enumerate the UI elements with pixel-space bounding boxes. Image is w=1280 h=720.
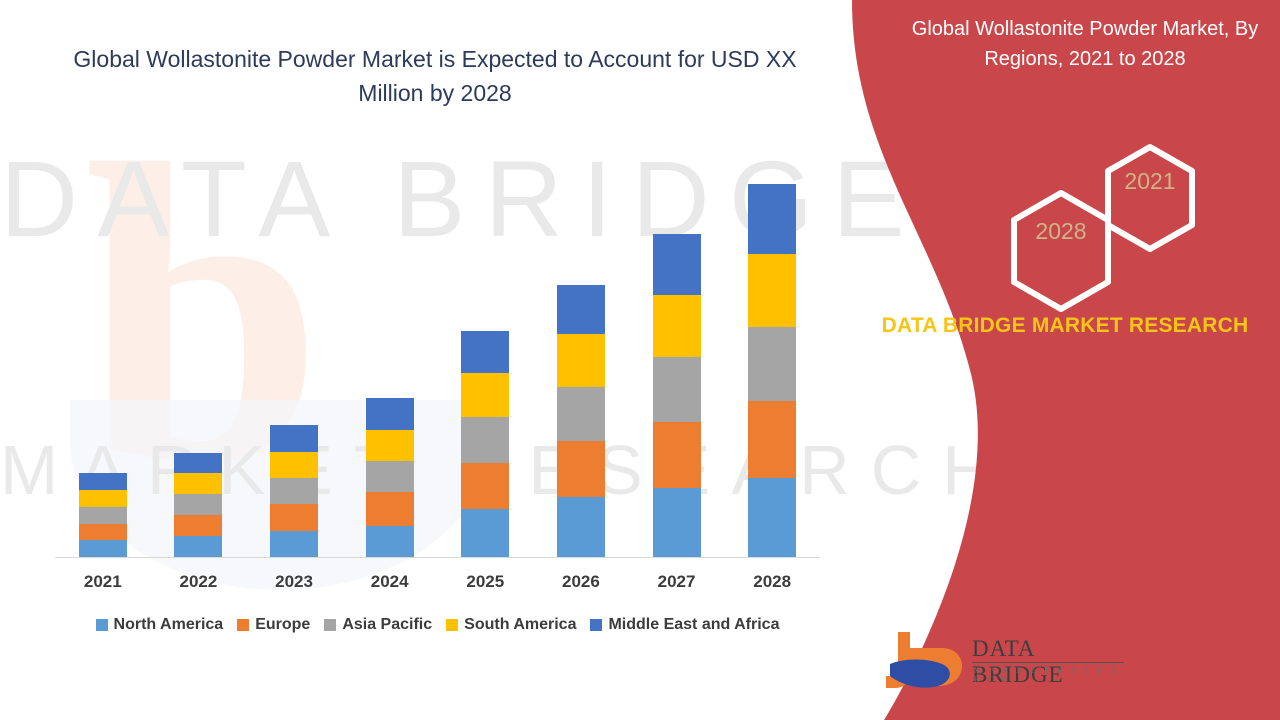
hexagon-2028-label: 2028: [1005, 218, 1117, 245]
x-axis-label-2021: 2021: [55, 572, 150, 600]
bar-column: [342, 150, 437, 557]
bar-column: [438, 150, 533, 557]
x-axis-label-2027: 2027: [629, 572, 724, 600]
bar-segment-asia-pacific: [79, 507, 127, 524]
legend-label: South America: [464, 616, 576, 634]
bar-segment-south-america: [653, 295, 701, 358]
bar-segment-middle-east-and-africa: [461, 331, 509, 373]
bar-segment-middle-east-and-africa: [748, 184, 796, 254]
bar-segment-asia-pacific: [557, 387, 605, 441]
legend-label: Middle East and Africa: [608, 616, 779, 634]
bar-column: [247, 150, 342, 557]
bar-column: [629, 150, 724, 557]
bar-segment-asia-pacific: [270, 478, 318, 504]
stacked-bar-2026: [557, 285, 605, 557]
x-axis-label-2022: 2022: [151, 572, 246, 600]
bar-segment-europe: [79, 524, 127, 541]
stacked-bar-2022: [174, 453, 222, 557]
logo-tagline: M A R K E T R E S E A R C H: [974, 666, 1130, 684]
hexagon-group: 2021 2028: [860, 140, 1280, 285]
chart-legend: North AmericaEuropeAsia PacificSouth Ame…: [55, 616, 820, 634]
bar-segment-europe: [748, 401, 796, 477]
x-axis-label-2023: 2023: [247, 572, 342, 600]
logo-divider: [972, 662, 1124, 663]
infographic-slide: b DATA BRIDGE MARKET RESEARCH Global Wol…: [0, 0, 1280, 720]
x-axis-line: [55, 557, 820, 558]
bar-column: [533, 150, 628, 557]
stacked-bar-chart: [55, 150, 820, 557]
bar-segment-south-america: [557, 334, 605, 386]
bar-segment-north-america: [366, 526, 414, 557]
bar-segment-asia-pacific: [174, 494, 222, 515]
bar-segment-south-america: [174, 473, 222, 494]
bar-segment-middle-east-and-africa: [270, 425, 318, 451]
bar-segment-europe: [557, 441, 605, 497]
bar-segment-south-america: [79, 490, 127, 507]
bar-segment-north-america: [748, 478, 796, 557]
x-axis-label-2028: 2028: [725, 572, 820, 600]
brand-name: DATA BRIDGE MARKET RESEARCH: [875, 310, 1255, 342]
bar-segment-asia-pacific: [461, 417, 509, 463]
legend-item-asia-pacific[interactable]: Asia Pacific: [324, 616, 432, 634]
bar-segment-middle-east-and-africa: [653, 234, 701, 295]
bar-segment-north-america: [461, 509, 509, 557]
company-logo: DATA BRIDGE M A R K E T R E S E A R C H: [880, 628, 1130, 698]
stacked-bar-2024: [366, 398, 414, 557]
bar-segment-europe: [653, 422, 701, 488]
bar-segment-south-america: [748, 254, 796, 327]
bar-column: [55, 150, 150, 557]
bar-segment-europe: [270, 504, 318, 531]
x-axis-label-2025: 2025: [438, 572, 533, 600]
stacked-bar-2027: [653, 234, 701, 557]
legend-swatch-icon: [446, 619, 458, 631]
bar-segment-middle-east-and-africa: [79, 473, 127, 490]
bar-segment-south-america: [366, 430, 414, 461]
bar-segment-asia-pacific: [653, 357, 701, 422]
bar-segment-europe: [366, 492, 414, 525]
legend-label: Asia Pacific: [342, 616, 432, 634]
legend-swatch-icon: [324, 619, 336, 631]
bar-segment-north-america: [557, 497, 605, 557]
legend-label: North America: [114, 616, 224, 634]
legend-swatch-icon: [590, 619, 602, 631]
stacked-bar-2023: [270, 425, 318, 557]
bar-segment-north-america: [79, 540, 127, 557]
x-axis-labels: 20212022202320242025202620272028: [55, 572, 820, 600]
x-axis-label-2024: 2024: [342, 572, 437, 600]
page-title: Global Wollastonite Powder Market is Exp…: [40, 42, 830, 110]
panel-content: Global Wollastonite Powder Market, By Re…: [850, 0, 1280, 720]
bar-column: [151, 150, 246, 557]
logo-mark-icon: [880, 628, 968, 694]
bar-segment-middle-east-and-africa: [366, 398, 414, 429]
bar-segment-north-america: [270, 531, 318, 557]
stacked-bar-2021: [79, 473, 127, 557]
bar-segment-south-america: [461, 373, 509, 417]
legend-item-south-america[interactable]: South America: [446, 616, 576, 634]
bar-segment-middle-east-and-africa: [557, 285, 605, 334]
hexagon-2028-icon: [1005, 188, 1117, 314]
bar-segment-asia-pacific: [748, 327, 796, 401]
legend-label: Europe: [255, 616, 310, 634]
stacked-bar-2028: [748, 184, 796, 557]
legend-item-europe[interactable]: Europe: [237, 616, 310, 634]
bar-segment-asia-pacific: [366, 461, 414, 492]
bar-segment-europe: [174, 515, 222, 536]
stacked-bar-2025: [461, 331, 509, 557]
legend-swatch-icon: [96, 619, 108, 631]
bar-column: [725, 150, 820, 557]
panel-title: Global Wollastonite Powder Market, By Re…: [910, 14, 1260, 74]
hexagon-2021-label: 2021: [1100, 168, 1200, 195]
legend-item-north-america[interactable]: North America: [96, 616, 224, 634]
bar-segment-middle-east-and-africa: [174, 453, 222, 474]
bar-segment-south-america: [270, 452, 318, 478]
x-axis-label-2026: 2026: [533, 572, 628, 600]
legend-item-middle-east-and-africa[interactable]: Middle East and Africa: [590, 616, 779, 634]
bar-segment-north-america: [174, 536, 222, 557]
bar-segment-north-america: [653, 488, 701, 557]
legend-swatch-icon: [237, 619, 249, 631]
bar-segment-europe: [461, 463, 509, 509]
